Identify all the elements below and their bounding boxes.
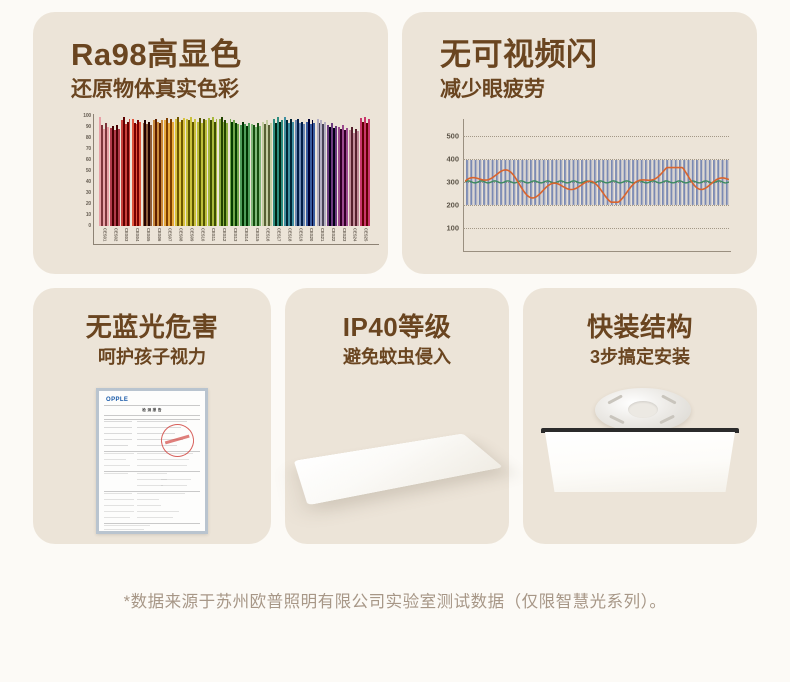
cri-bar xyxy=(270,123,272,226)
lamp-panel-image xyxy=(291,398,503,528)
cri-bar-group xyxy=(306,119,316,226)
cert-text-line xyxy=(137,517,173,518)
flicker-blue-stroke xyxy=(547,160,549,205)
cri-bar xyxy=(237,124,239,226)
flicker-title: 无可视频闪 xyxy=(440,39,598,70)
cri-bar-group xyxy=(327,123,337,226)
test-report-document: OPPLE 检 测 报 告 xyxy=(96,388,208,534)
cri-x-tick-label: CES18 xyxy=(287,228,292,241)
flicker-plot-area xyxy=(465,122,729,251)
cri-bar-group xyxy=(230,119,240,226)
cri-bar-group xyxy=(251,123,261,226)
cri-bar-group xyxy=(262,120,272,226)
cri-bar xyxy=(259,126,261,226)
cri-bar-group xyxy=(349,127,359,226)
cri-bar-group xyxy=(295,119,305,226)
cri-x-tick-label: CES13 xyxy=(233,228,238,241)
flicker-blue-stroke xyxy=(598,160,600,205)
cri-bar xyxy=(303,124,305,226)
cri-x-tick-label: CES24 xyxy=(353,228,358,241)
mounting-bracket xyxy=(595,388,691,432)
cri-bar-group xyxy=(121,117,131,226)
cert-text-line xyxy=(137,493,185,494)
lamp-panel-front xyxy=(545,432,735,492)
test-report-page: OPPLE 检 测 报 告 xyxy=(99,391,205,531)
cri-bar xyxy=(183,118,185,226)
cri-y-tick: 100 xyxy=(83,113,91,119)
fast-install-title: 快装结构 xyxy=(523,314,757,340)
ip40-title: IP40等级 xyxy=(285,314,509,340)
cri-y-axis-line xyxy=(93,114,94,244)
cert-text-line xyxy=(137,421,187,422)
flicker-y-tick: 200 xyxy=(446,200,459,209)
bracket-slot xyxy=(609,415,624,424)
flicker-y-axis-line xyxy=(463,119,464,251)
cri-bar-group xyxy=(132,119,142,226)
cri-bar-group xyxy=(153,119,163,226)
blue-light-subtitle: 呵护孩子视力 xyxy=(33,348,271,366)
cert-text-line xyxy=(104,433,132,434)
cert-text-line xyxy=(104,427,132,428)
footnote-text: *数据来源于苏州欧普照明有限公司实验室测试数据（仅限智慧光系列）。 xyxy=(0,588,790,612)
flicker-blue-stroke xyxy=(560,160,562,205)
cri-bar-group xyxy=(197,118,207,226)
flicker-waveforms xyxy=(465,122,729,251)
cri-y-tick: 70 xyxy=(86,146,91,152)
flicker-y-tick: 300 xyxy=(446,177,459,186)
cri-y-tick: 20 xyxy=(86,201,91,207)
cert-text-line xyxy=(104,473,128,474)
cri-x-tick-label: CES01 xyxy=(102,228,107,241)
cert-text-line xyxy=(104,465,130,466)
cert-text-line xyxy=(104,459,126,460)
cert-text-line xyxy=(104,511,134,512)
cri-x-tick-label: CES16 xyxy=(266,228,271,241)
cert-text-line xyxy=(104,505,134,506)
cri-x-tick-label: CES23 xyxy=(342,228,347,241)
fast-install-image xyxy=(531,386,749,534)
flicker-blue-stroke xyxy=(717,160,719,205)
cert-text-line xyxy=(104,525,150,526)
cri-x-tick-label: CES10 xyxy=(200,228,205,241)
cri-bar-chart: 1009080706050403020100 CES01CES02CES03CE… xyxy=(69,116,379,264)
cert-text-line xyxy=(137,485,163,486)
cri-bar xyxy=(161,120,163,226)
cri-bar-group xyxy=(317,119,327,226)
flicker-blue-stroke xyxy=(573,160,575,205)
blue-light-title: 无蓝光危害 xyxy=(33,314,271,340)
ip40-heading-block: IP40等级 避免蚊虫侵入 xyxy=(285,314,509,366)
flicker-x-axis-line xyxy=(463,251,731,252)
flicker-blue-stroke xyxy=(479,160,481,205)
cri-y-tick: 0 xyxy=(88,223,91,229)
cri-bar xyxy=(226,123,228,226)
cri-x-tick-label: CES02 xyxy=(113,228,118,241)
cert-text-line xyxy=(104,453,134,454)
cri-x-tick-label: CES09 xyxy=(189,228,194,241)
cri-bar xyxy=(216,119,218,226)
cert-text-line xyxy=(104,421,132,422)
cri-y-tick: 40 xyxy=(86,179,91,185)
cert-divider xyxy=(104,405,200,406)
cri-y-tick: 90 xyxy=(86,124,91,130)
cri-bar-group xyxy=(273,117,283,226)
cri-bar xyxy=(281,120,283,226)
cert-section-divider xyxy=(104,419,200,420)
cert-text-line xyxy=(104,529,144,530)
flicker-y-tick: 500 xyxy=(446,131,459,140)
cri-x-tick-label: CES22 xyxy=(331,228,336,241)
cri-bar xyxy=(118,129,120,226)
flicker-y-tick: 400 xyxy=(446,154,459,163)
cri-y-axis: 1009080706050403020100 xyxy=(69,116,91,226)
cri-heading-block: Ra98高显色 还原物体真实色彩 xyxy=(71,39,242,100)
cri-x-tick-label: CES06 xyxy=(157,228,162,241)
flicker-heading-block: 无可视频闪 减少眼疲劳 xyxy=(440,39,598,100)
cri-bar xyxy=(107,127,109,226)
cert-text-line xyxy=(137,499,159,500)
cert-text-line xyxy=(137,465,187,466)
flicker-green-line xyxy=(465,181,729,183)
cert-text-line xyxy=(137,473,167,474)
cri-x-tick-label: CES14 xyxy=(244,228,249,241)
cri-bar-group xyxy=(208,117,218,226)
cri-y-tick: 80 xyxy=(86,135,91,141)
cri-x-tick-label: CES05 xyxy=(146,228,151,241)
flicker-blue-stroke xyxy=(705,160,707,205)
cert-text-line xyxy=(104,517,130,518)
flicker-blue-stroke xyxy=(624,160,626,205)
cri-x-tick-label: CES12 xyxy=(222,228,227,241)
opple-logo: OPPLE xyxy=(106,397,128,403)
flicker-blue-stroke xyxy=(496,160,498,205)
cri-x-axis-labels: CES01CES02CES03CES04CES05CES06CES07CES08… xyxy=(99,228,371,258)
cri-bar-group xyxy=(99,117,109,226)
fast-install-subtitle: 3步搞定安装 xyxy=(523,348,757,366)
cri-bar xyxy=(205,120,207,226)
cri-bar xyxy=(129,119,131,226)
cri-x-tick-label: CES25 xyxy=(364,228,369,241)
cri-bar xyxy=(150,125,152,226)
cri-x-tick-label: CES21 xyxy=(320,228,325,241)
card-no-blue-light: 无蓝光危害 呵护孩子视力 OPPLE 检 测 报 告 xyxy=(33,288,271,544)
cri-bar-group xyxy=(186,117,196,226)
cri-bar xyxy=(248,123,250,226)
page-root: Ra98高显色 还原物体真实色彩 1009080706050403020100 … xyxy=(0,0,790,682)
bracket-slot xyxy=(661,394,676,404)
cert-section-divider xyxy=(104,491,200,492)
flicker-blue-stroke xyxy=(653,160,655,205)
card-no-flicker: 无可视频闪 减少眼疲劳 500400300200100 xyxy=(402,12,757,274)
cri-title: Ra98高显色 xyxy=(71,39,242,70)
bracket-slot xyxy=(607,394,622,404)
flicker-y-tick: 100 xyxy=(446,223,459,232)
cri-bar xyxy=(194,119,196,226)
cri-bar xyxy=(346,128,348,226)
cri-x-tick-label: CES19 xyxy=(298,228,303,241)
cri-subtitle: 还原物体真实色彩 xyxy=(71,79,242,100)
cri-y-tick: 60 xyxy=(86,157,91,163)
cri-x-tick-label: CES15 xyxy=(255,228,260,241)
cri-bar-group xyxy=(219,117,229,226)
flicker-blue-stroke xyxy=(492,160,494,205)
cri-bar xyxy=(292,122,294,227)
flicker-subtitle: 减少眼疲劳 xyxy=(440,79,598,100)
flicker-blue-stroke xyxy=(521,160,523,205)
flicker-blue-stroke xyxy=(628,160,630,205)
flicker-blue-stroke xyxy=(466,160,468,205)
fast-heading-block: 快装结构 3步搞定安装 xyxy=(523,314,757,366)
cert-text-line xyxy=(137,511,179,512)
cri-bar xyxy=(313,123,315,226)
cri-x-tick-label: CES17 xyxy=(277,228,282,241)
cert-text-line xyxy=(104,445,128,446)
cri-bar-group xyxy=(338,125,348,226)
flicker-blue-stroke xyxy=(611,160,613,205)
cri-y-tick: 50 xyxy=(86,168,91,174)
card-high-cri: Ra98高显色 还原物体真实色彩 1009080706050403020100 … xyxy=(33,12,388,274)
cri-x-tick-label: CES04 xyxy=(135,228,140,241)
cri-x-tick-label: CES11 xyxy=(211,228,216,241)
cri-x-tick-label: CES03 xyxy=(124,228,129,241)
cert-doc-title: 检 测 报 告 xyxy=(99,408,205,413)
cri-bar xyxy=(357,131,359,226)
cert-text-line xyxy=(161,479,191,480)
cri-bar-group xyxy=(143,120,153,226)
cert-text-line xyxy=(104,493,132,494)
cri-y-tick: 10 xyxy=(86,212,91,218)
cert-text-line xyxy=(161,485,187,486)
cri-x-tick-label: CES07 xyxy=(168,228,173,241)
cert-text-line xyxy=(104,439,132,440)
cri-bar-group xyxy=(360,117,370,226)
cert-text-line xyxy=(137,459,189,460)
cert-divider xyxy=(104,415,200,416)
cri-y-tick: 30 xyxy=(86,190,91,196)
card-ip40-rating: IP40等级 避免蚊虫侵入 xyxy=(285,288,509,544)
cert-section-divider xyxy=(104,471,200,472)
cri-bar xyxy=(139,122,141,227)
flicker-blue-stroke xyxy=(679,160,681,205)
ip40-subtitle: 避免蚊虫侵入 xyxy=(285,348,509,366)
lamp-panel-surface xyxy=(294,434,503,506)
cri-bar-group xyxy=(284,117,294,226)
flicker-blue-stroke xyxy=(641,160,643,205)
cri-bar xyxy=(324,122,326,227)
flicker-y-axis: 500400300200100 xyxy=(427,122,459,247)
blue-heading-block: 无蓝光危害 呵护孩子视力 xyxy=(33,314,271,366)
cri-x-tick-label: CES20 xyxy=(309,228,314,241)
cert-section-divider xyxy=(104,523,200,524)
flicker-waveform-chart: 500400300200100 xyxy=(427,122,742,262)
cri-bar xyxy=(368,119,370,226)
cri-bar xyxy=(335,126,337,226)
bracket-slot xyxy=(659,415,674,424)
cri-bar-group xyxy=(175,117,185,226)
cri-bar-group xyxy=(110,125,120,226)
cri-bar-group xyxy=(164,118,174,226)
card-fast-install: 快装结构 3步搞定安装 xyxy=(523,288,757,544)
cri-bar-group xyxy=(240,122,250,227)
cri-bar xyxy=(172,122,174,227)
cri-plot-area xyxy=(99,116,371,226)
cri-x-tick-label: CES08 xyxy=(179,228,184,241)
cert-text-line xyxy=(104,499,134,500)
flicker-blue-stroke xyxy=(666,160,668,205)
flicker-blue-stroke xyxy=(509,160,511,205)
cert-text-line xyxy=(137,505,161,506)
